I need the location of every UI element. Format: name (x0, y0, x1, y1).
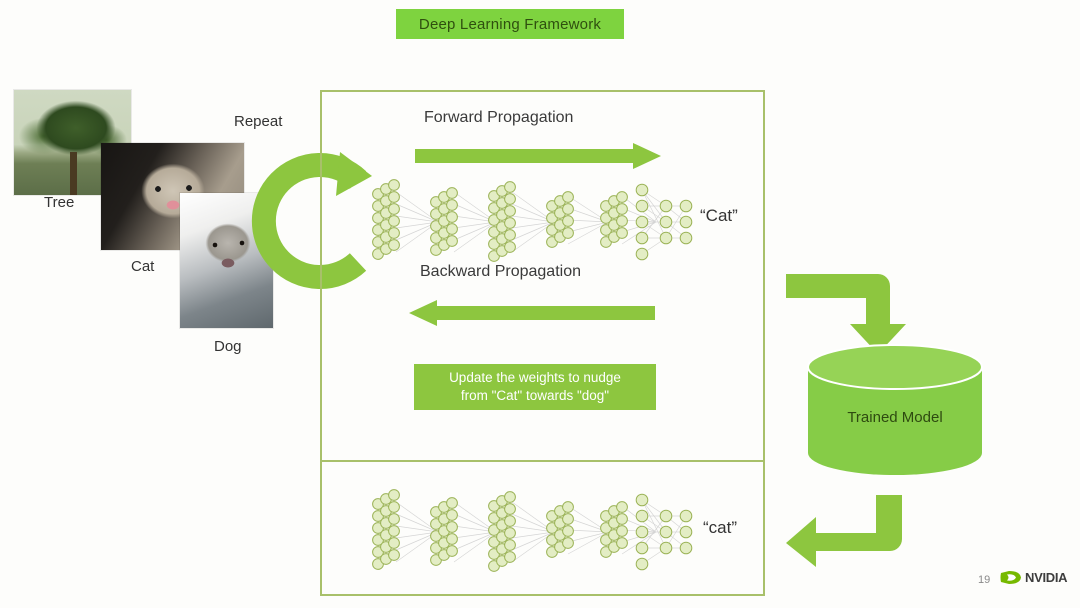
forward-arrow-icon (415, 143, 661, 169)
slide-title-banner: Deep Learning Framework (396, 9, 624, 39)
training-output-label: “Cat” (700, 206, 738, 226)
nvidia-wordmark: NVIDIA (1025, 570, 1067, 585)
slide-canvas: Deep Learning Framework Tree Cat Dog Rep… (0, 0, 1080, 608)
arrow-to-inference-icon (786, 495, 916, 567)
backward-propagation-label: Backward Propagation (420, 263, 581, 281)
inference-output-label: “cat” (703, 518, 737, 538)
update-weights-line1: Update the weights to nudge (449, 369, 621, 387)
nvidia-logo: NVIDIA (1000, 570, 1067, 585)
neural-network-inference (368, 490, 698, 574)
input-label-dog: Dog (214, 338, 242, 355)
neural-network-training (368, 180, 698, 264)
update-weights-line2: from "Cat" towards "dog" (461, 387, 609, 405)
trained-model-label: Trained Model (815, 409, 975, 426)
nvidia-eye-icon (1000, 570, 1022, 585)
update-weights-callout: Update the weights to nudge from "Cat" t… (414, 364, 656, 410)
repeat-label: Repeat (234, 113, 282, 130)
backward-arrow-icon (409, 300, 655, 326)
input-label-tree: Tree (44, 194, 74, 211)
forward-propagation-label: Forward Propagation (424, 109, 573, 127)
page-number: 19 (978, 574, 990, 586)
input-label-cat: Cat (131, 258, 154, 275)
page-title: Deep Learning Framework (419, 16, 601, 33)
